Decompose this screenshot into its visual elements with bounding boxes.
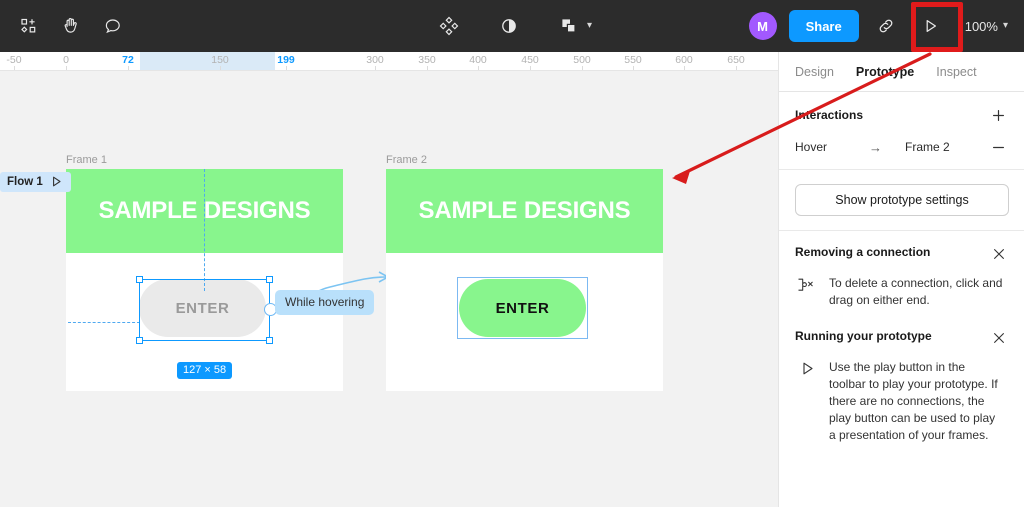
ruler-tick-label: 450: [521, 54, 539, 66]
ruler-tick-mark: [427, 66, 428, 70]
hand-tool-icon[interactable]: [54, 9, 88, 43]
top-toolbar: ▾ M Share 100% ▾: [0, 0, 1024, 52]
ruler-selection-range: [140, 52, 275, 71]
interaction-target: Frame 2: [905, 140, 988, 154]
interactions-title: Interactions: [795, 108, 863, 122]
zoom-level-label: 100%: [965, 19, 998, 34]
flow-badge[interactable]: Flow 1: [0, 172, 71, 192]
show-prototype-settings-button[interactable]: Show prototype settings: [795, 184, 1009, 216]
connection-trigger-label[interactable]: While hovering: [275, 290, 374, 315]
tip-running-prototype: Running your prototype Use the play butt…: [779, 313, 1024, 448]
components-icon[interactable]: [432, 9, 466, 43]
flow-badge-label: Flow 1: [7, 176, 43, 188]
frame-2-banner: SAMPLE DESIGNS: [386, 169, 663, 253]
comment-icon[interactable]: [96, 9, 130, 43]
ruler-tick-mark: [220, 66, 221, 70]
move-tools-icon[interactable]: [12, 9, 46, 43]
interactions-header: Interactions: [795, 104, 1008, 126]
ruler-tick-mark: [14, 66, 15, 70]
play-icon[interactable]: [50, 175, 63, 188]
figma-app-window: ▾ M Share 100% ▾: [0, 0, 1024, 507]
tip-text: Use the play button in the toolbar to pl…: [829, 359, 1004, 444]
play-icon[interactable]: [913, 9, 947, 43]
ruler-tick-label: 150: [211, 54, 229, 66]
interaction-row[interactable]: Hover → Frame 2: [795, 137, 1008, 157]
ruler-tick-mark: [684, 66, 685, 70]
ruler-tick-label: -50: [6, 54, 21, 66]
ruler-tick-mark: [530, 66, 531, 70]
arrow-right-icon: →: [869, 140, 905, 155]
boolean-union-icon[interactable]: [552, 9, 586, 43]
tip-body: Use the play button in the toolbar to pl…: [795, 359, 1008, 444]
ruler-tick-label: 600: [675, 54, 693, 66]
tip-header: Removing a connection: [795, 245, 1008, 263]
ruler-tick-mark: [375, 66, 376, 70]
interaction-trigger: Hover: [795, 140, 869, 154]
panel-tabs: Design Prototype Inspect: [779, 52, 1024, 92]
close-icon[interactable]: [990, 329, 1008, 347]
frame-2[interactable]: SAMPLE DESIGNS ENTER: [386, 169, 663, 391]
ruler-tick-label: 500: [573, 54, 591, 66]
ruler-tick-label: 350: [418, 54, 436, 66]
interactions-section: Interactions Hover → Frame 2: [779, 92, 1024, 170]
play-icon: [795, 359, 819, 444]
ruler-tick-label: 199: [277, 54, 295, 66]
share-button[interactable]: Share: [789, 10, 859, 42]
ruler-tick-mark: [582, 66, 583, 70]
link-icon[interactable]: [869, 9, 903, 43]
close-icon[interactable]: [990, 245, 1008, 263]
ruler-tick-label: 300: [366, 54, 384, 66]
right-sidebar: Design Prototype Inspect Interactions Ho…: [778, 52, 1024, 507]
horizontal-ruler[interactable]: -50072150199300350400450500550600650: [0, 52, 778, 71]
enter-button-frame-2[interactable]: ENTER: [459, 279, 586, 337]
ruler-tick-label: 650: [727, 54, 745, 66]
ruler-tick-mark: [66, 66, 67, 70]
ruler-tick-label: 550: [624, 54, 642, 66]
ruler-tick-label: 72: [122, 54, 134, 66]
chevron-down-icon[interactable]: ▾: [1003, 21, 1008, 31]
chevron-down-icon[interactable]: ▾: [587, 21, 592, 31]
toolbar-right-controls: M Share 100% ▾: [749, 0, 1014, 52]
avatar[interactable]: M: [749, 12, 777, 40]
tab-design[interactable]: Design: [795, 65, 834, 79]
zoom-control[interactable]: 100% ▾: [957, 13, 1014, 40]
ruler-tick-mark: [633, 66, 634, 70]
ruler-tick-mark: [128, 66, 129, 70]
frame-2-banner-text: SAMPLE DESIGNS: [386, 197, 663, 225]
tip-body: To delete a connection, click and drag o…: [795, 275, 1008, 309]
tab-inspect[interactable]: Inspect: [936, 65, 976, 79]
tab-prototype[interactable]: Prototype: [856, 65, 914, 79]
ruler-tick-mark: [478, 66, 479, 70]
tip-title: Removing a connection: [795, 245, 930, 259]
design-canvas[interactable]: Frame 1 SAMPLE DESIGNS ENTER 127 × 58 Wh…: [0, 71, 778, 507]
mask-icon[interactable]: [492, 9, 526, 43]
ruler-tick-label: 400: [469, 54, 487, 66]
tip-text: To delete a connection, click and drag o…: [829, 275, 1004, 309]
boolean-union-control[interactable]: ▾: [552, 9, 592, 43]
minus-icon[interactable]: [988, 137, 1008, 157]
tip-title: Running your prototype: [795, 329, 932, 343]
tip-removing-connection: Removing a connection To delete a: [779, 231, 1024, 313]
ruler-tick-mark: [736, 66, 737, 70]
toolbar-left-tools: [0, 9, 130, 43]
plus-icon[interactable]: [988, 105, 1008, 125]
ruler-tick-mark: [286, 66, 287, 70]
ruler-tick-label: 0: [63, 54, 69, 66]
frame-label-2[interactable]: Frame 2: [386, 154, 427, 166]
tip-header: Running your prototype: [795, 329, 1008, 347]
remove-connection-icon: [795, 275, 819, 309]
